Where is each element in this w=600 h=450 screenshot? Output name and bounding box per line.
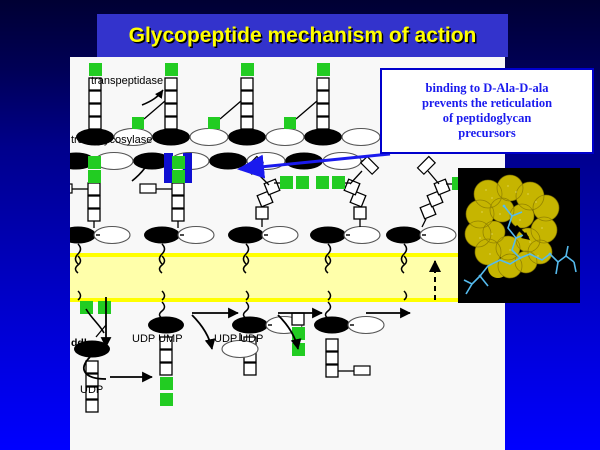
d-alanine-residue bbox=[165, 63, 178, 76]
slide-title-banner: Glycopeptide mechanism of action bbox=[97, 14, 508, 57]
lipid-II-precursor bbox=[228, 157, 309, 264]
callout-line-4: precursors bbox=[458, 126, 515, 141]
peptide-stem bbox=[89, 63, 102, 129]
ddl-label: ddl bbox=[71, 337, 87, 349]
callout-line-2: prevents the reticulation bbox=[422, 96, 552, 111]
d-alanine-residue bbox=[284, 117, 296, 129]
d-alanine-residue bbox=[160, 393, 173, 406]
d-alanine-residue bbox=[88, 156, 101, 169]
cytoplasmic-precursor bbox=[148, 302, 184, 406]
peptide-stem bbox=[208, 63, 254, 129]
lipid-II-precursor bbox=[310, 157, 380, 264]
d-alanine-residue bbox=[80, 301, 93, 314]
transglycosylase-label: transglycosylase bbox=[71, 134, 152, 146]
d-alanine-residue bbox=[172, 156, 185, 169]
peptide-stem bbox=[284, 63, 330, 129]
vancomycin-complex-image bbox=[458, 168, 580, 303]
udp-label: UDP bbox=[80, 384, 103, 396]
d-alanine-residue bbox=[132, 117, 144, 129]
d-alanine-residue bbox=[241, 63, 254, 76]
transpeptidase-arrow bbox=[142, 90, 163, 105]
d-alanine-residue bbox=[172, 170, 185, 183]
d-alanine-residue bbox=[88, 170, 101, 183]
transpeptidase-label: transpeptidase bbox=[91, 75, 163, 87]
udp-ump-label: UDP UMP bbox=[132, 333, 183, 345]
d-alanine-residue bbox=[332, 176, 345, 189]
lipid-II-precursor bbox=[140, 153, 214, 264]
d-alanine-residue bbox=[160, 377, 173, 390]
peptide-stem bbox=[132, 63, 178, 129]
slide-canvas: Glycopeptide mechanism of action bbox=[0, 0, 600, 450]
d-alanine-residue bbox=[280, 176, 293, 189]
page-title: Glycopeptide mechanism of action bbox=[129, 24, 477, 48]
callout-box: binding to D-Ala-D-ala prevents the reti… bbox=[380, 68, 594, 154]
cytoplasmic-pathway bbox=[74, 297, 410, 412]
d-alanine-residue bbox=[292, 343, 305, 356]
udp-udp-label: UDP UDP bbox=[214, 333, 263, 345]
callout-line-1: binding to D-Ala-D-ala bbox=[426, 81, 549, 96]
d-ala-d-ala-dipeptide bbox=[292, 313, 305, 356]
callout-line-3: of peptidoglycan bbox=[443, 111, 532, 126]
d-alanine-residue bbox=[316, 176, 329, 189]
lipid-II-precursor bbox=[70, 156, 130, 264]
d-alanine-residue bbox=[208, 117, 220, 129]
d-alanine-residue bbox=[296, 176, 309, 189]
d-alanine-residue bbox=[98, 301, 111, 314]
d-alanine-residue bbox=[317, 63, 330, 76]
membrane-spanning-lipids bbox=[76, 256, 436, 300]
lipid-II-precursor-row bbox=[70, 153, 481, 264]
